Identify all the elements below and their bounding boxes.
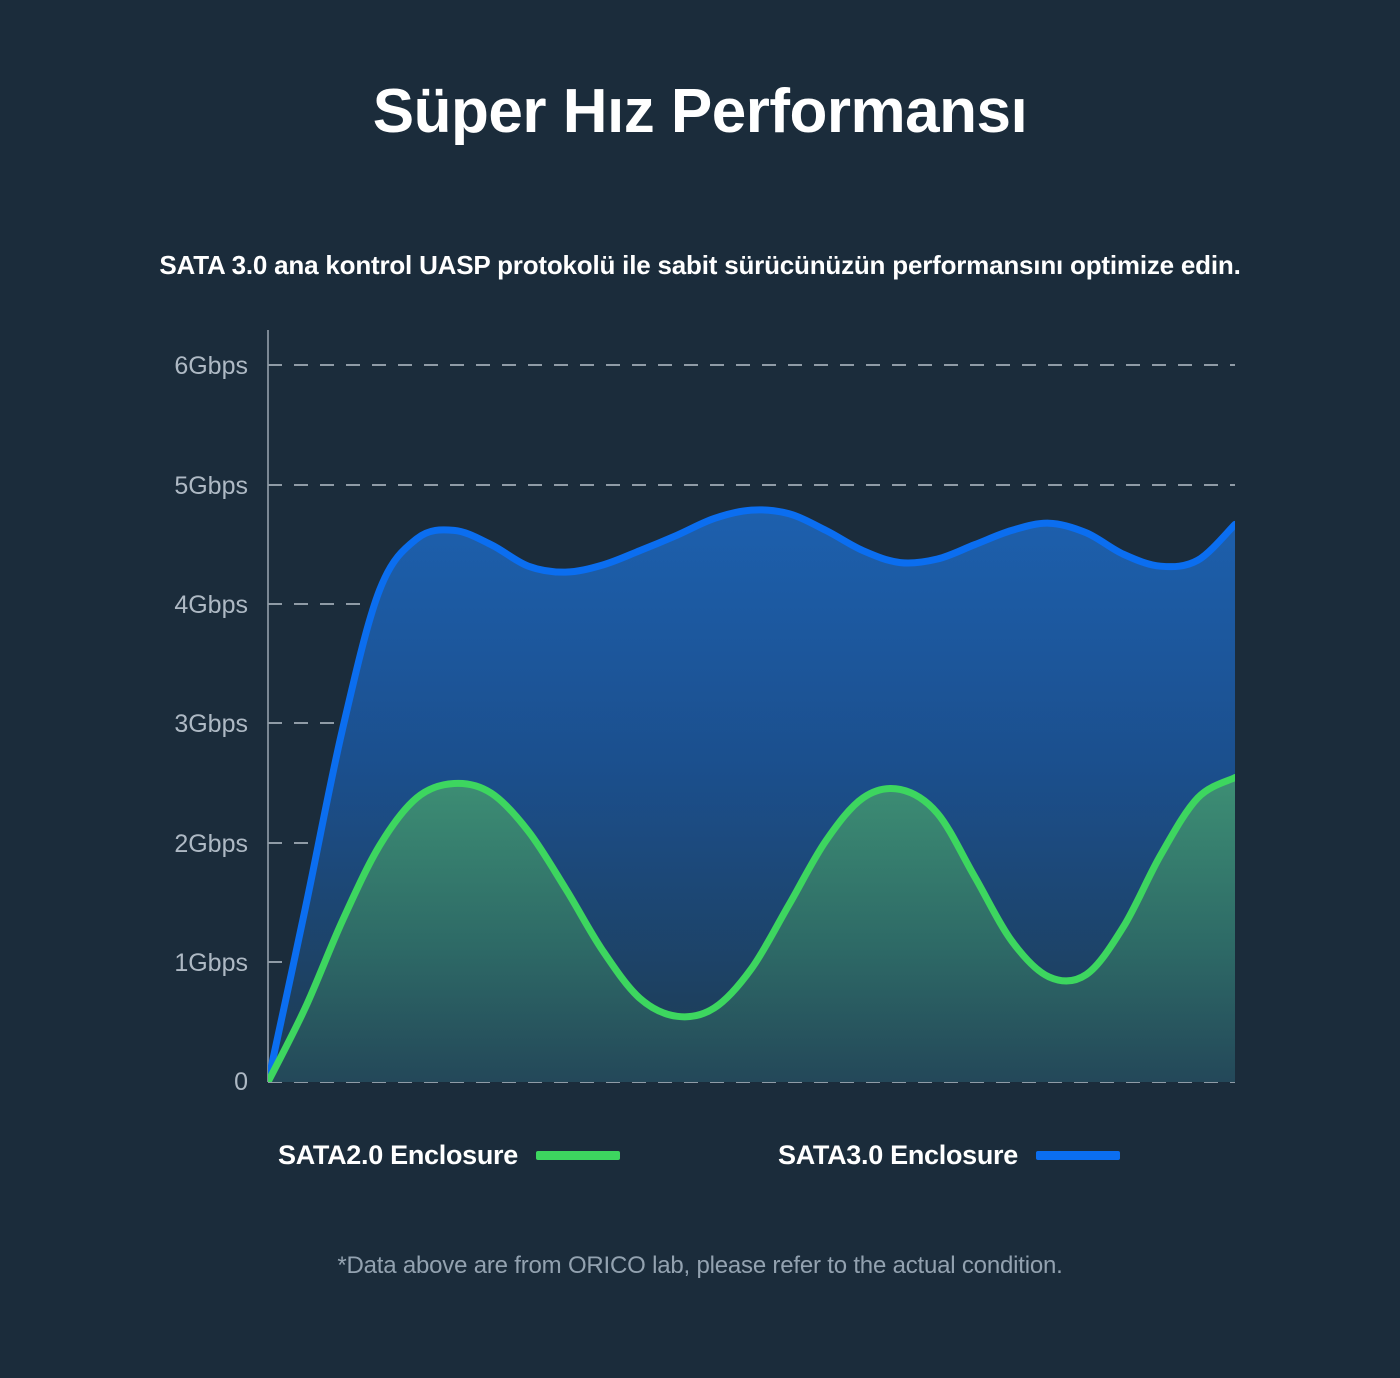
y-tick-0: 0	[234, 1068, 248, 1096]
legend-swatch-sata20	[536, 1151, 620, 1160]
y-tick-1gbps: 1Gbps	[174, 949, 248, 977]
y-axis-labels: 6Gbps 5Gbps 4Gbps 3Gbps 2Gbps 1Gbps 0	[174, 352, 248, 1096]
chart-svg: 6Gbps 5Gbps 4Gbps 3Gbps 2Gbps 1Gbps 0	[0, 320, 1400, 1110]
speed-performance-infographic: Süper Hız Performansı SATA 3.0 ana kontr…	[0, 0, 1400, 1378]
y-tick-6gbps: 6Gbps	[174, 352, 248, 380]
y-tick-4gbps: 4Gbps	[174, 591, 248, 619]
legend-label-sata30: SATA3.0 Enclosure	[778, 1140, 1018, 1171]
legend-label-sata20: SATA2.0 Enclosure	[278, 1140, 518, 1171]
page-subtitle: SATA 3.0 ana kontrol UASP protokolü ile …	[0, 250, 1400, 281]
legend-item-sata20: SATA2.0 Enclosure	[278, 1140, 620, 1171]
chart-footnote: *Data above are from ORICO lab, please r…	[0, 1252, 1400, 1280]
y-tick-2gbps: 2Gbps	[174, 830, 248, 858]
chart-legend: SATA2.0 Enclosure SATA3.0 Enclosure	[0, 1140, 1400, 1200]
y-tick-5gbps: 5Gbps	[174, 472, 248, 500]
legend-item-sata30: SATA3.0 Enclosure	[778, 1140, 1120, 1171]
performance-chart: 6Gbps 5Gbps 4Gbps 3Gbps 2Gbps 1Gbps 0	[0, 320, 1400, 1110]
y-tick-3gbps: 3Gbps	[174, 710, 248, 738]
page-title: Süper Hız Performansı	[0, 78, 1400, 146]
legend-swatch-sata30	[1036, 1151, 1120, 1160]
